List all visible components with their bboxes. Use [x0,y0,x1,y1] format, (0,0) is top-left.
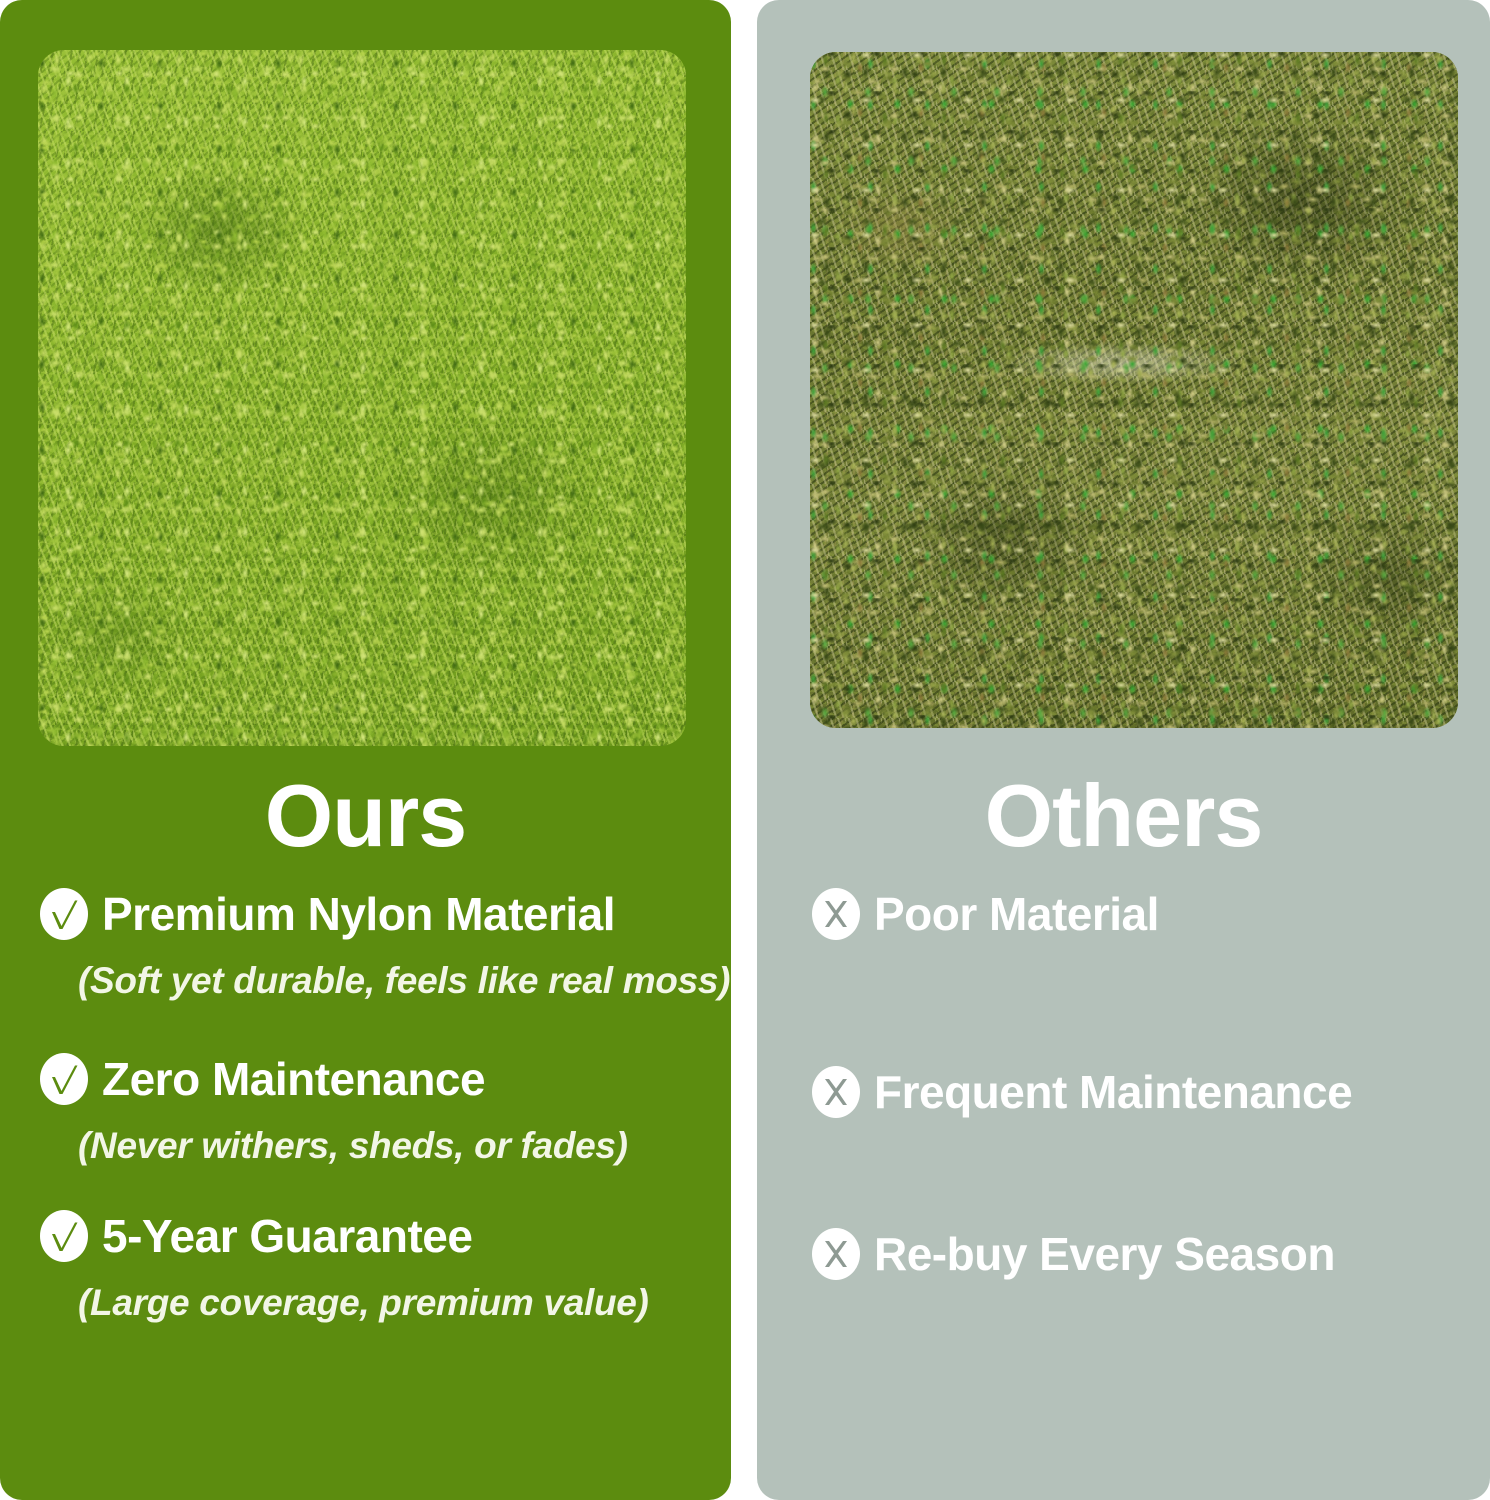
ours-feature-list: Premium Nylon Material (Soft yet durable… [0,888,731,1323]
synthetic-moss-texture [38,50,686,746]
others-feature-row-3: Re-buy Every Season [757,1228,1490,1280]
ours-feature-label-2: Zero Maintenance [102,1055,485,1103]
comparison-board: Ours Premium Nylon Material (Soft yet du… [0,0,1490,1500]
others-feature-row-1: Poor Material [757,888,1490,940]
ours-feature-sub-2: (Never withers, sheds, or fades) [0,1127,731,1166]
others-feature-label-1: Poor Material [874,890,1159,938]
check-icon [40,1210,88,1262]
check-icon [40,1053,88,1105]
others-product-photo [810,52,1458,728]
ours-feature-label-1: Premium Nylon Material [102,890,615,938]
ours-panel: Ours Premium Nylon Material (Soft yet du… [0,0,731,1500]
spacer [0,1166,731,1210]
others-feature-label-3: Re-buy Every Season [874,1230,1335,1278]
ours-product-photo [38,50,686,746]
cross-icon [812,1066,860,1118]
cross-icon [812,888,860,940]
ours-feature-row-3: 5-Year Guarantee [0,1210,731,1262]
others-feature-label-2: Frequent Maintenance [874,1068,1352,1116]
spacer [757,940,1490,1066]
ours-heading: Ours [0,772,731,860]
others-panel: Others Poor Material Frequent Maintenanc… [757,0,1490,1500]
others-feature-list: Poor Material Frequent Maintenance [757,888,1490,1280]
ours-feature-row-1: Premium Nylon Material [0,888,731,940]
natural-moss-texture [810,52,1458,728]
spacer [0,1001,731,1053]
ours-feature-row-2: Zero Maintenance [0,1053,731,1105]
ours-feature-sub-1: (Soft yet durable, feels like real moss) [0,962,731,1001]
others-heading: Others [757,772,1490,860]
spacer [757,1118,1490,1228]
cross-icon [812,1228,860,1280]
ours-feature-label-3: 5-Year Guarantee [102,1212,472,1260]
ours-feature-sub-3: (Large coverage, premium value) [0,1284,731,1323]
others-feature-row-2: Frequent Maintenance [757,1066,1490,1118]
check-icon [40,888,88,940]
